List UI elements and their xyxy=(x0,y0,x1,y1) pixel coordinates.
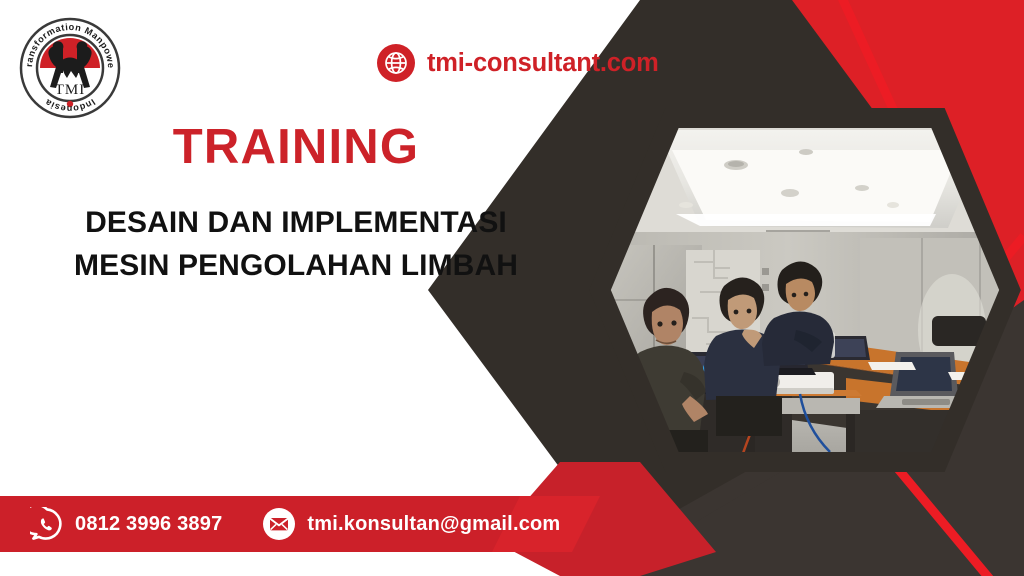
email-address[interactable]: tmi.konsultan@gmail.com xyxy=(307,513,560,536)
whatsapp-icon xyxy=(30,507,64,541)
contact-bar: 0812 3996 3897 tmi.konsultan@gmail.com xyxy=(0,496,600,552)
tmi-logo: TMI Transformation Manpower Indonesia xyxy=(18,16,122,120)
website-row[interactable]: tmi-consultant.com xyxy=(377,44,659,82)
background-geometry xyxy=(0,0,1024,576)
svg-text:TMI: TMI xyxy=(55,82,86,98)
flyer-canvas: TMI Transformation Manpower Indonesia tm… xyxy=(0,0,1024,576)
globe-icon xyxy=(377,44,415,82)
headline-block: TRAINING DESAIN DAN IMPLEMENTASI MESIN P… xyxy=(36,122,556,287)
page-title: TRAINING xyxy=(36,122,556,174)
subtitle-line-2: MESIN PENGOLAHAN LIMBAH xyxy=(36,245,556,288)
email-contact[interactable]: tmi.konsultan@gmail.com xyxy=(262,507,560,541)
subtitle: DESAIN DAN IMPLEMENTASI MESIN PENGOLAHAN… xyxy=(36,202,556,287)
website-url[interactable]: tmi-consultant.com xyxy=(427,49,659,78)
phone-number[interactable]: 0812 3996 3897 xyxy=(75,513,222,536)
phone-contact[interactable]: 0812 3996 3897 xyxy=(30,507,222,541)
subtitle-line-1: DESAIN DAN IMPLEMENTASI xyxy=(36,202,556,245)
envelope-icon xyxy=(262,507,296,541)
